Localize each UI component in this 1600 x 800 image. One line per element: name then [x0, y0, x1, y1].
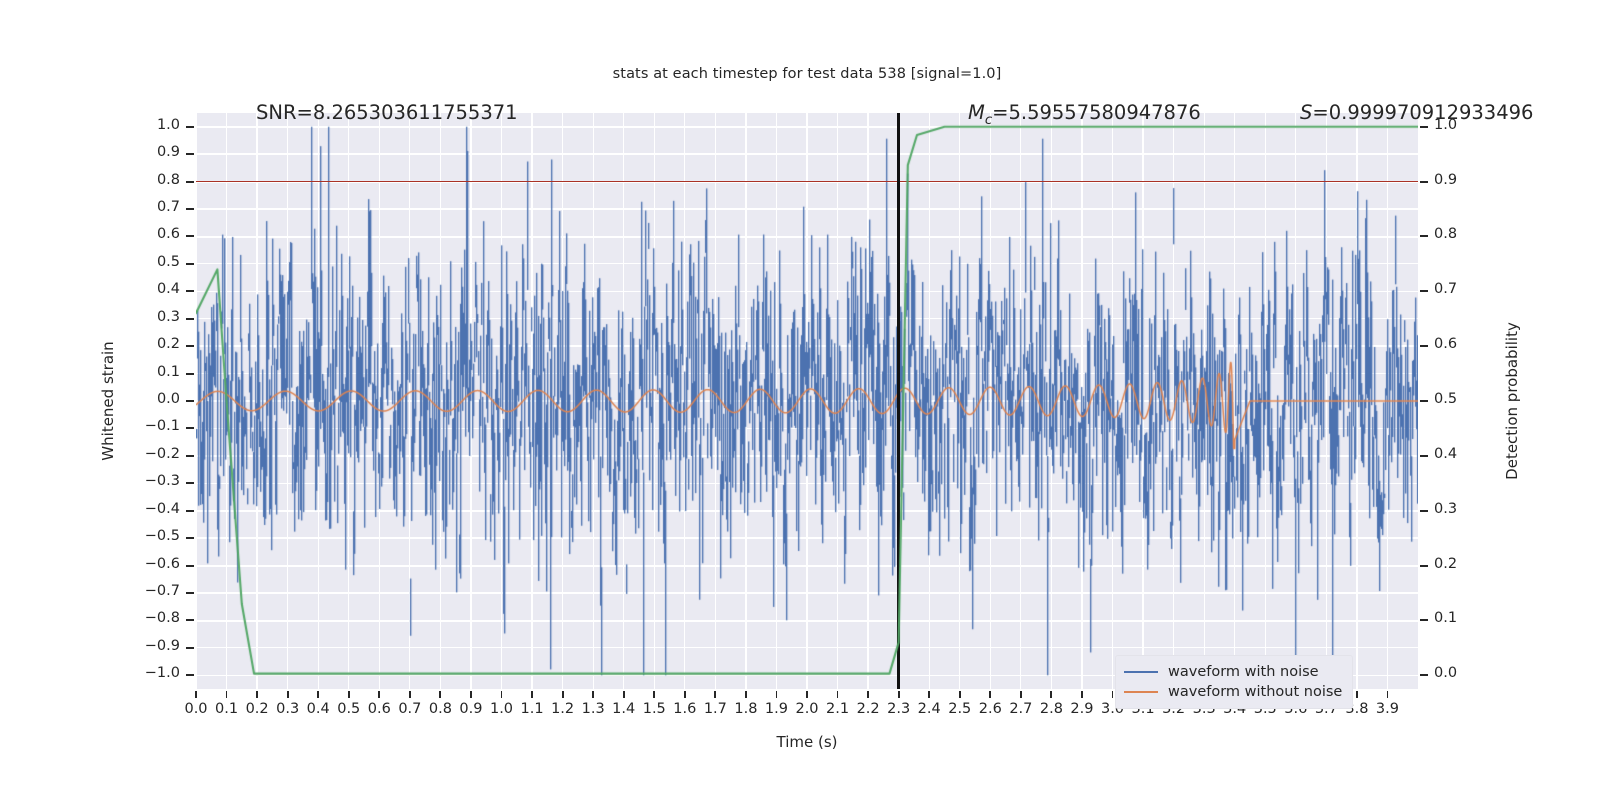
- y-tick-mark-right: [1420, 345, 1428, 347]
- y-tick-mark-right: [1420, 455, 1428, 457]
- legend-swatch-icon: [1124, 671, 1158, 674]
- y-tick-mark-left: [186, 318, 194, 320]
- y-tick-mark-right: [1420, 619, 1428, 621]
- x-tick-mark: [959, 691, 961, 698]
- y-tick-label-left: −0.4: [104, 501, 180, 517]
- legend-item[interactable]: waveform without noise: [1124, 682, 1342, 702]
- y-tick-label-left: 0.3: [104, 309, 180, 325]
- x-tick-mark: [1112, 691, 1114, 698]
- y-tick-mark-left: [186, 510, 194, 512]
- y-tick-mark-left: [186, 400, 194, 402]
- y-tick-label-right: 0.0: [1434, 665, 1494, 681]
- y-tick-mark-left: [186, 537, 194, 539]
- y-tick-label-right: 0.8: [1434, 226, 1494, 242]
- y-tick-mark-left: [186, 208, 194, 210]
- x-tick-mark: [378, 691, 380, 698]
- y-tick-mark-left: [186, 181, 194, 183]
- x-tick-mark: [928, 691, 930, 698]
- legend: waveform with noisewaveform without nois…: [1115, 655, 1353, 709]
- x-tick-mark: [1050, 691, 1052, 698]
- x-tick-mark: [745, 691, 747, 698]
- legend-label: waveform with noise: [1168, 664, 1319, 680]
- figure-canvas: stats at each timestep for test data 538…: [0, 0, 1600, 800]
- x-tick-mark: [989, 691, 991, 698]
- y-tick-mark-left: [186, 153, 194, 155]
- y-tick-label-left: 0.8: [104, 172, 180, 188]
- y-tick-mark-left: [186, 565, 194, 567]
- y-tick-mark-right: [1420, 181, 1428, 183]
- x-tick-mark: [837, 691, 839, 698]
- x-tick-mark: [531, 691, 533, 698]
- chirp-mass-annotation: Mc=5.59557580947876: [968, 101, 1201, 128]
- snr-annotation: SNR=8.265303611755371: [256, 101, 518, 124]
- y-tick-label-right: 0.9: [1434, 172, 1494, 188]
- y-tick-mark-left: [186, 647, 194, 649]
- y-tick-label-left: −0.3: [104, 473, 180, 489]
- y-tick-mark-left: [186, 263, 194, 265]
- x-tick-mark: [439, 691, 441, 698]
- y-tick-mark-left: [186, 126, 194, 128]
- plot-area: [196, 113, 1418, 689]
- y-tick-mark-left: [186, 345, 194, 347]
- x-tick-mark: [684, 691, 686, 698]
- y-tick-label-left: 0.9: [104, 144, 180, 160]
- y-axis-label-left: Whitened strain: [99, 341, 117, 460]
- y-tick-mark-left: [186, 290, 194, 292]
- y-tick-label-right: 0.4: [1434, 446, 1494, 462]
- x-tick-mark: [714, 691, 716, 698]
- x-tick-mark: [867, 691, 869, 698]
- y-tick-label-right: 0.3: [1434, 501, 1494, 517]
- x-axis-label: Time (s): [196, 733, 1418, 751]
- x-tick-mark: [1387, 691, 1389, 698]
- y-tick-label-left: 1.0: [104, 117, 180, 133]
- y-tick-label-left: −0.6: [104, 556, 180, 572]
- x-tick-mark: [470, 691, 472, 698]
- x-tick-mark: [592, 691, 594, 698]
- legend-swatch-icon: [1124, 691, 1158, 694]
- x-tick-mark: [653, 691, 655, 698]
- y-tick-mark-left: [186, 592, 194, 594]
- legend-label: waveform without noise: [1168, 684, 1342, 700]
- page-title: stats at each timestep for test data 538…: [196, 66, 1418, 82]
- x-tick-mark: [1020, 691, 1022, 698]
- x-tick-mark: [287, 691, 289, 698]
- y-tick-mark-left: [186, 373, 194, 375]
- y-tick-label-left: −1.0: [104, 665, 180, 681]
- y-tick-label-left: 0.7: [104, 199, 180, 215]
- y-tick-label-right: 0.6: [1434, 336, 1494, 352]
- y-tick-label-right: 0.5: [1434, 391, 1494, 407]
- y-tick-mark-right: [1420, 235, 1428, 237]
- x-tick-mark: [226, 691, 228, 698]
- y-tick-mark-left: [186, 455, 194, 457]
- y-tick-mark-left: [186, 235, 194, 237]
- x-tick-mark: [409, 691, 411, 698]
- y-tick-label-right: 0.7: [1434, 281, 1494, 297]
- legend-item[interactable]: waveform with noise: [1124, 662, 1342, 682]
- x-tick-mark: [898, 691, 900, 698]
- y-tick-mark-right: [1420, 674, 1428, 676]
- y-tick-mark-left: [186, 619, 194, 621]
- y-tick-mark-left: [186, 482, 194, 484]
- x-tick-mark: [1081, 691, 1083, 698]
- y-tick-label-left: −0.5: [104, 528, 180, 544]
- y-tick-label-left: 0.5: [104, 254, 180, 270]
- x-tick-mark: [317, 691, 319, 698]
- x-tick-mark: [348, 691, 350, 698]
- x-tick-mark: [776, 691, 778, 698]
- x-tick-mark: [806, 691, 808, 698]
- detection-probability-series: [196, 113, 1418, 689]
- y-tick-mark-right: [1420, 565, 1428, 567]
- y-tick-label-left: −0.8: [104, 610, 180, 626]
- y-tick-label-left: 0.4: [104, 281, 180, 297]
- y-tick-label-left: −0.9: [104, 638, 180, 654]
- y-tick-label-left: −0.7: [104, 583, 180, 599]
- x-tick-mark: [1356, 691, 1358, 698]
- x-tick-mark: [562, 691, 564, 698]
- y-tick-label-right: 0.1: [1434, 610, 1494, 626]
- x-tick-mark: [195, 691, 197, 698]
- y-tick-mark-right: [1420, 290, 1428, 292]
- x-tick-mark: [623, 691, 625, 698]
- y-tick-label-left: 0.6: [104, 226, 180, 242]
- x-tick-mark: [501, 691, 503, 698]
- x-tick-mark: [256, 691, 258, 698]
- y-tick-mark-right: [1420, 510, 1428, 512]
- y-axis-label-right: Detection probability: [1503, 322, 1521, 480]
- score-annotation: S=0.999970912933496: [1300, 101, 1533, 124]
- y-tick-mark-left: [186, 674, 194, 676]
- y-tick-mark-left: [186, 427, 194, 429]
- y-tick-mark-right: [1420, 126, 1428, 128]
- y-tick-mark-right: [1420, 400, 1428, 402]
- x-tick-label: 3.9: [1363, 701, 1411, 717]
- y-tick-label-right: 0.2: [1434, 556, 1494, 572]
